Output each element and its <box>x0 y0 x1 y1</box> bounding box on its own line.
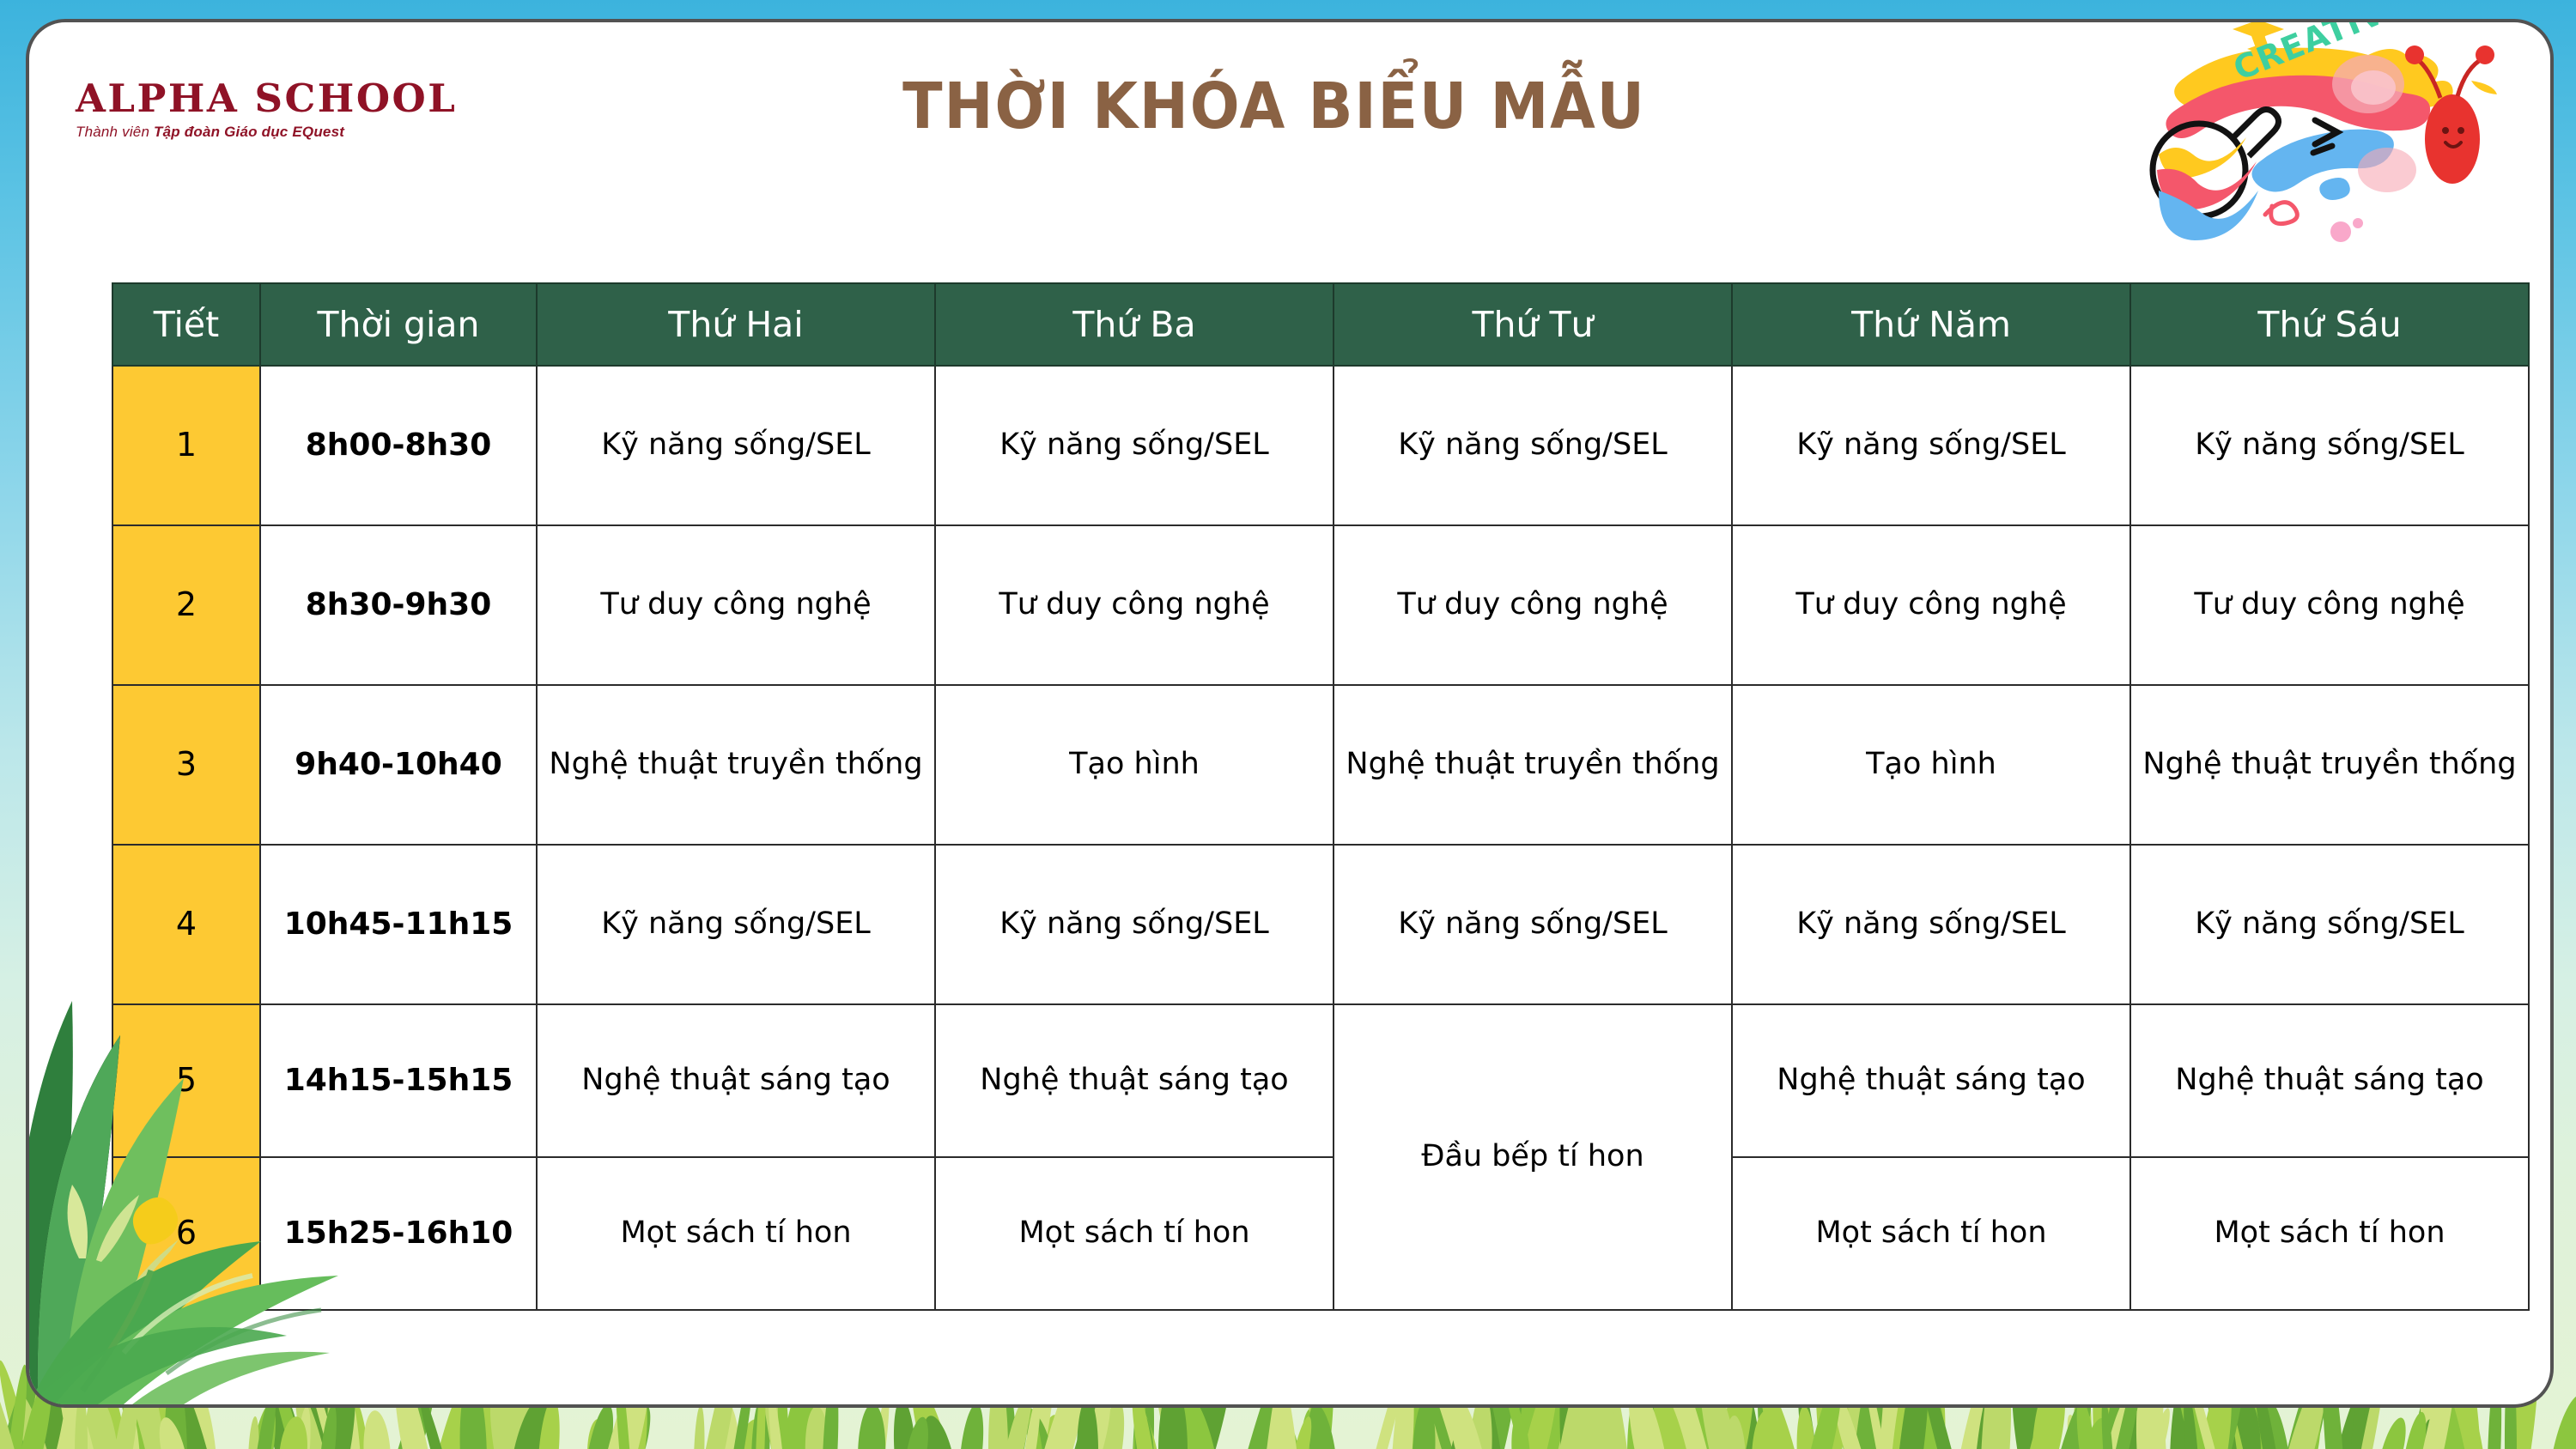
cell-friday: Kỹ năng sống/SEL <box>2130 366 2529 525</box>
cell-thursday: Mọt sách tí hon <box>1732 1157 2130 1310</box>
cell-period: 5 <box>112 1004 260 1157</box>
table-row: 3 9h40-10h40 Nghệ thuật truyền thống Tạo… <box>112 685 2529 845</box>
cell-period: 6 <box>112 1157 260 1310</box>
creativity-illustration: CREATIVITY <box>2111 19 2523 259</box>
cell-monday: Tư duy công nghệ <box>537 525 935 685</box>
page-title: THỜI KHÓA BIỂU MẪU <box>682 70 1867 143</box>
logo-tagline-prefix: Thành viên <box>76 124 154 140</box>
cell-thursday: Kỹ năng sống/SEL <box>1732 366 2130 525</box>
cell-tuesday: Mọt sách tí hon <box>935 1157 1334 1310</box>
cell-tuesday: Kỹ năng sống/SEL <box>935 366 1334 525</box>
cell-wednesday: Kỹ năng sống/SEL <box>1334 845 1732 1004</box>
cell-friday: Nghệ thuật sáng tạo <box>2130 1004 2529 1157</box>
cell-wednesday: Nghệ thuật truyền thống <box>1334 685 1732 845</box>
cell-tuesday: Nghệ thuật sáng tạo <box>935 1004 1334 1157</box>
column-header-time: Thời gian <box>260 283 537 366</box>
character-body <box>2425 94 2480 184</box>
cell-tuesday: Tư duy công nghệ <box>935 525 1334 685</box>
cell-period: 4 <box>112 845 260 1004</box>
cell-thursday: Tạo hình <box>1732 685 2130 845</box>
cell-time: 14h15-15h15 <box>260 1004 537 1157</box>
column-header-tuesday: Thứ Ba <box>935 283 1334 366</box>
cell-time: 10h45-11h15 <box>260 845 537 1004</box>
logo-tagline: Thành viên Tập đoàn Giáo dục EQuest <box>76 124 457 141</box>
cell-friday: Mọt sách tí hon <box>2130 1157 2529 1310</box>
cell-period: 1 <box>112 366 260 525</box>
cell-monday: Kỹ năng sống/SEL <box>537 366 935 525</box>
cell-friday: Nghệ thuật truyền thống <box>2130 685 2529 845</box>
table-row: 4 10h45-11h15 Kỹ năng sống/SEL Kỹ năng s… <box>112 845 2529 1004</box>
column-header-monday: Thứ Hai <box>537 283 935 366</box>
cell-time: 8h00-8h30 <box>260 366 537 525</box>
cell-monday: Mọt sách tí hon <box>537 1157 935 1310</box>
cell-time: 9h40-10h40 <box>260 685 537 845</box>
cell-monday: Kỹ năng sống/SEL <box>537 845 935 1004</box>
grass-blade <box>694 1405 706 1449</box>
grass-blade <box>960 1403 987 1449</box>
cell-thursday: Tư duy công nghệ <box>1732 525 2130 685</box>
cell-thursday: Kỹ năng sống/SEL <box>1732 845 2130 1004</box>
cell-monday: Nghệ thuật truyền thống <box>537 685 935 845</box>
grass-blade <box>2553 1391 2576 1449</box>
cell-friday: Tư duy công nghệ <box>2130 525 2529 685</box>
cell-thursday: Nghệ thuật sáng tạo <box>1732 1004 2130 1157</box>
grass-blade <box>361 1410 391 1449</box>
logo-wordmark: ALPHA SCHOOL <box>76 79 457 118</box>
column-header-thursday: Thứ Năm <box>1732 283 2130 366</box>
timetable: Tiết Thời gian Thứ Hai Thứ Ba Thứ Tư Thứ… <box>112 282 2530 1311</box>
timetable-header-row: Tiết Thời gian Thứ Hai Thứ Ba Thứ Tư Thứ… <box>112 283 2529 366</box>
cell-tuesday: Kỹ năng sống/SEL <box>935 845 1334 1004</box>
column-header-period: Tiết <box>112 283 260 366</box>
cell-time: 15h25-16h10 <box>260 1157 537 1310</box>
slide-card: ALPHA SCHOOL Thành viên Tập đoàn Giáo dụ… <box>26 19 2554 1408</box>
logo-tagline-strong: Tập đoàn Giáo dục EQuest <box>154 124 344 140</box>
cell-tuesday: Tạo hình <box>935 685 1334 845</box>
cell-time: 8h30-9h30 <box>260 525 537 685</box>
cell-wednesday-merged: Đầu bếp tí hon <box>1334 1004 1732 1310</box>
cell-period: 3 <box>112 685 260 845</box>
cell-friday: Kỹ năng sống/SEL <box>2130 845 2529 1004</box>
column-header-friday: Thứ Sáu <box>2130 283 2529 366</box>
column-header-wednesday: Thứ Tư <box>1334 283 1732 366</box>
cell-monday: Nghệ thuật sáng tạo <box>537 1004 935 1157</box>
cell-wednesday: Tư duy công nghệ <box>1334 525 1732 685</box>
table-row: 5 14h15-15h15 Nghệ thuật sáng tạo Nghệ t… <box>112 1004 2529 1157</box>
table-row: 6 15h25-16h10 Mọt sách tí hon Mọt sách t… <box>112 1157 2529 1310</box>
cell-wednesday: Kỹ năng sống/SEL <box>1334 366 1732 525</box>
table-row: 1 8h00-8h30 Kỹ năng sống/SEL Kỹ năng sốn… <box>112 366 2529 525</box>
alpha-school-logo: ALPHA SCHOOL Thành viên Tập đoàn Giáo dụ… <box>76 79 457 141</box>
cell-period: 2 <box>112 525 260 685</box>
table-row: 2 8h30-9h30 Tư duy công nghệ Tư duy công… <box>112 525 2529 685</box>
